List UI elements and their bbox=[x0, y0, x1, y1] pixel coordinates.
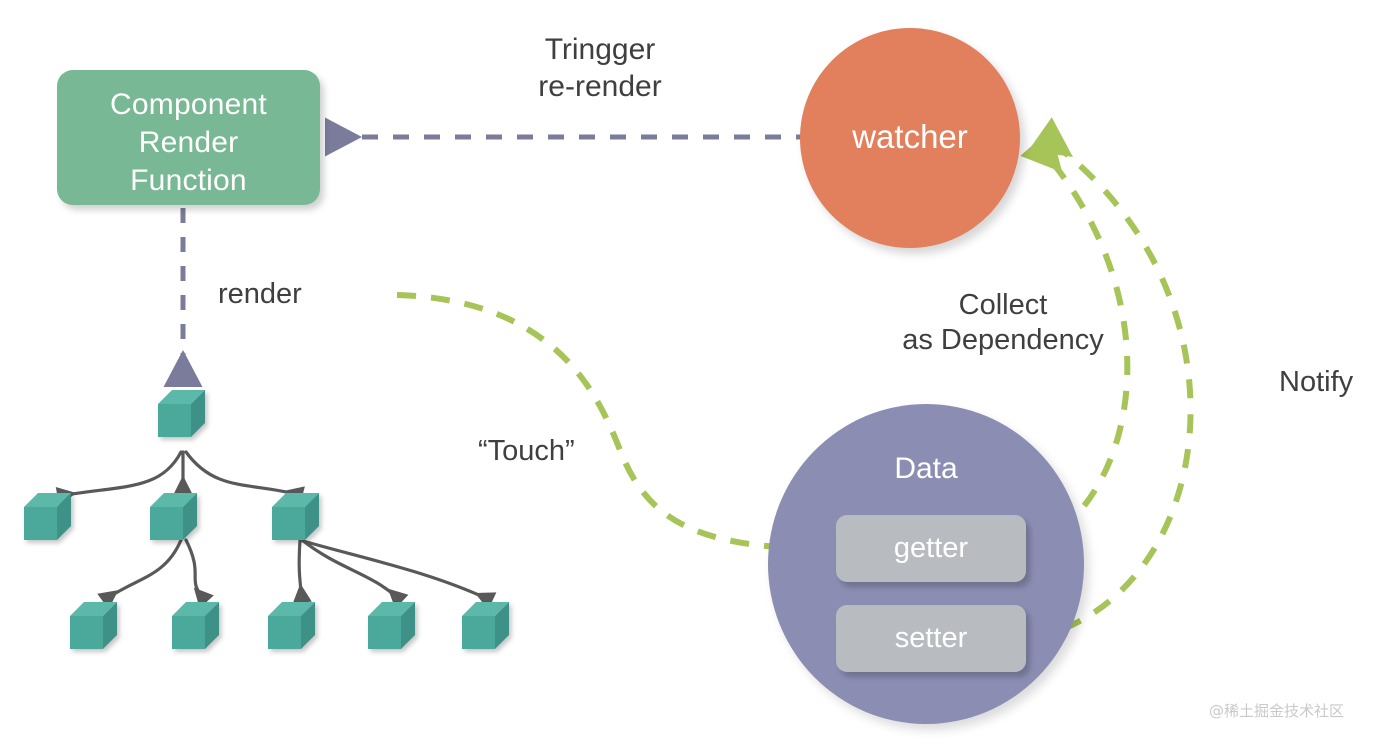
data-label: Data bbox=[768, 452, 1084, 486]
component-render-function-label: ComponentRenderFunction bbox=[57, 86, 320, 199]
edge-label-notify: Notify bbox=[1279, 365, 1353, 400]
edge-label-touch: “Touch” bbox=[478, 434, 575, 469]
watcher-label: watcher bbox=[800, 116, 1020, 158]
node-watcher[interactable]: watcher bbox=[800, 28, 1020, 248]
edge-label-trigger-rerender: Tringgerre-render bbox=[460, 32, 740, 105]
node-setter[interactable]: setter bbox=[836, 605, 1026, 672]
tree-node-cube bbox=[158, 390, 205, 437]
tree-node-cube bbox=[268, 602, 315, 649]
setter-label: setter bbox=[836, 620, 1026, 657]
getter-label: getter bbox=[836, 530, 1026, 567]
diagram-canvas: ComponentRenderFunction watcher Data get… bbox=[0, 0, 1398, 754]
tree-node-cube bbox=[24, 493, 71, 540]
component-tree bbox=[24, 390, 509, 649]
edge-touch bbox=[397, 295, 828, 549]
node-component-render-function[interactable]: ComponentRenderFunction bbox=[57, 70, 320, 205]
tree-node-cube bbox=[150, 493, 197, 540]
node-getter[interactable]: getter bbox=[836, 515, 1026, 582]
tree-node-cube bbox=[70, 602, 117, 649]
tree-node-cube bbox=[368, 602, 415, 649]
watermark: @稀土掘金技术社区 bbox=[1209, 700, 1344, 721]
tree-node-cube bbox=[462, 602, 509, 649]
edge-label-render: render bbox=[218, 277, 302, 312]
tree-node-cube bbox=[272, 493, 319, 540]
edge-label-collect-as-dependency: Collectas Dependency bbox=[858, 288, 1148, 359]
tree-node-cube bbox=[172, 602, 219, 649]
